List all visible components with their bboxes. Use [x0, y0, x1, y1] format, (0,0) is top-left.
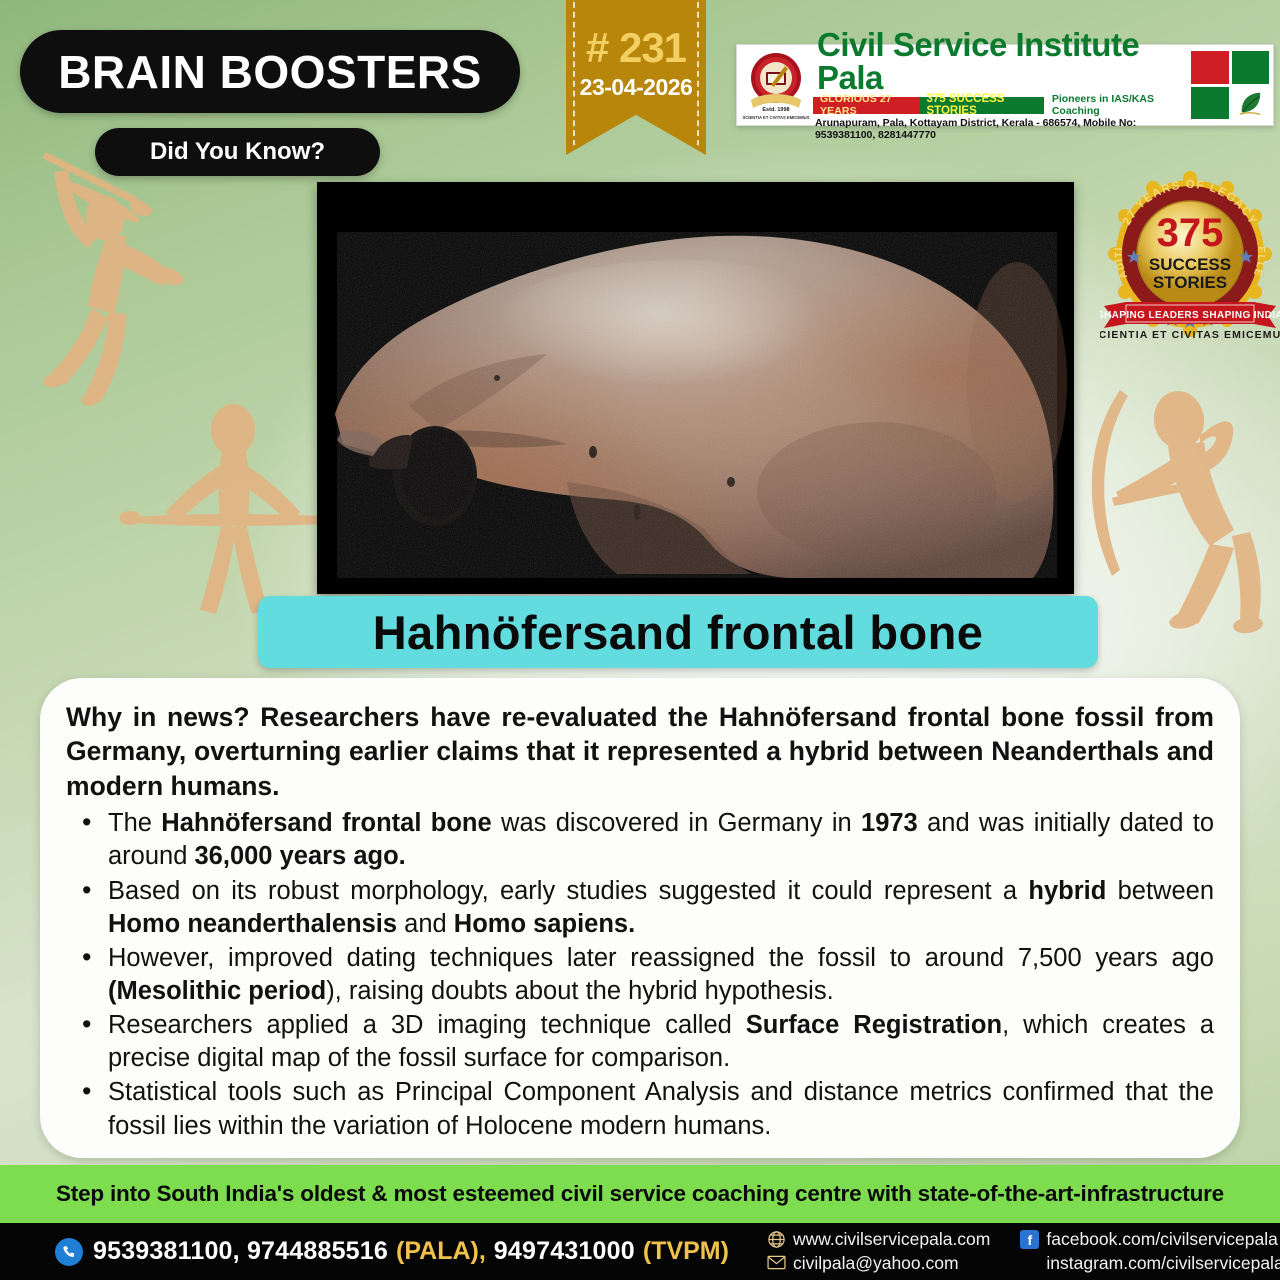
leaf-icon: [1232, 87, 1270, 120]
institute-address: Arunapuram, Pala, Kottayam District, Ker…: [813, 117, 1187, 141]
envelope-icon: [767, 1254, 786, 1273]
institute-name: Civil Service Institute Pala: [813, 29, 1187, 94]
facebook-icon: f: [1020, 1230, 1039, 1249]
page-title: BRAIN BOOSTERS: [58, 45, 482, 99]
badge-number: 375: [1157, 211, 1224, 255]
list-item: Based on its robust morphology, early st…: [104, 875, 1214, 941]
issue-date: 23-04-2026: [566, 74, 706, 101]
issue-ribbon: # 231 23-04-2026: [566, 0, 706, 155]
footer-web-block: www.civilservicepala.com civilpala@yahoo…: [767, 1229, 990, 1274]
did-you-know-pill: Did You Know?: [95, 128, 380, 176]
badge-ribbon-text: SHAPING LEADERS SHAPING INDIA: [1100, 310, 1280, 321]
institute-crest-icon: Estd. 1998 SCIENTIA ET CIVITAS EMICEMUS: [741, 48, 811, 122]
footer-phone-block: 9539381100, 9744885516 (PALA), 949743100…: [0, 1237, 729, 1266]
footer-instagram-row[interactable]: instagram.com/civilservicepala: [1020, 1253, 1280, 1274]
logo-credential-strip: GLORIOUS 27 YEARS 375 SUCCESS STORIES Pi…: [813, 97, 1187, 114]
globe-icon: [767, 1230, 786, 1249]
poster-root: BRAIN BOOSTERS Did You Know? # 231 23-04…: [0, 0, 1280, 1280]
phone-icon: [55, 1238, 83, 1266]
footer-website[interactable]: www.civilservicepala.com: [793, 1229, 990, 1250]
logo-text-block: Civil Service Institute Pala GLORIOUS 27…: [811, 29, 1187, 141]
svg-text:SCIENTIA ET CIVITAS EMICEMUS: SCIENTIA ET CIVITAS EMICEMUS: [742, 115, 809, 120]
badge-line1: SUCCESS: [1149, 255, 1231, 274]
fossil-skull-illustration: [317, 182, 1074, 594]
footer-social-block: f facebook.com/civilservicepala instagra…: [1020, 1229, 1280, 1274]
footer-bar: 9539381100, 9744885516 (PALA), 949743100…: [0, 1223, 1280, 1280]
ribbon-dashed-border: [573, 0, 699, 146]
strip-pioneers: Pioneers in IAS/KAS Coaching: [1043, 97, 1187, 114]
footer-website-row[interactable]: www.civilservicepala.com: [767, 1229, 990, 1250]
why-in-news-paragraph: Why in news? Researchers have re-evaluat…: [66, 700, 1214, 803]
issue-number: # 231: [566, 24, 706, 72]
topic-title-banner: Hahnöfersand frontal bone: [258, 596, 1098, 668]
stick-bearer-figure-icon: [120, 400, 350, 620]
footer-facebook-row[interactable]: f facebook.com/civilservicepala: [1020, 1229, 1280, 1250]
square-green-bottom: [1191, 87, 1229, 120]
archer-figure-icon: [1082, 380, 1272, 650]
logo-color-squares: [1187, 48, 1273, 122]
footer-email-row[interactable]: civilpala@yahoo.com: [767, 1253, 990, 1274]
strip-glorious-years: GLORIOUS 27 YEARS: [813, 97, 920, 114]
footer-phone-main[interactable]: 9539381100, 9744885516: [93, 1237, 388, 1266]
square-green-top: [1232, 51, 1270, 84]
footer-instagram[interactable]: instagram.com/civilservicepala: [1046, 1253, 1280, 1274]
institute-logo-bar: Estd. 1998 SCIENTIA ET CIVITAS EMICEMUS …: [736, 44, 1274, 126]
footer-location-pala: (PALA),: [396, 1237, 486, 1266]
list-item: The Hahnöfersand frontal bone was discov…: [104, 807, 1214, 873]
strip-success-stories: 375 SUCCESS STORIES: [920, 97, 1043, 114]
badge-motto: SCIENTIA ET CIVITAS EMICEMUS: [1100, 329, 1280, 341]
success-stories-badge: 27 YEARS OF LEGACY TRADITION EXCELLENCE …: [1100, 166, 1280, 341]
list-item: However, improved dating techniques late…: [104, 942, 1214, 1008]
list-item: Statistical tools such as Principal Comp…: [104, 1076, 1214, 1142]
footer-facebook[interactable]: facebook.com/civilservicepala: [1046, 1229, 1278, 1250]
svg-text:Estd. 1998: Estd. 1998: [762, 107, 789, 113]
bullet-list: The Hahnöfersand frontal bone was discov…: [66, 807, 1214, 1142]
did-you-know-label: Did You Know?: [150, 138, 325, 166]
fossil-photo: [317, 182, 1074, 594]
tagline-text: Step into South India's oldest & most es…: [56, 1181, 1224, 1207]
footer-email[interactable]: civilpala@yahoo.com: [793, 1253, 959, 1274]
content-card: Why in news? Researchers have re-evaluat…: [40, 678, 1240, 1158]
square-red: [1191, 51, 1229, 84]
badge-line2: STORIES: [1153, 273, 1227, 292]
topic-title: Hahnöfersand frontal bone: [373, 605, 984, 660]
spear-thrower-figure-icon: [22, 140, 237, 470]
list-item: Researchers applied a 3D imaging techniq…: [104, 1009, 1214, 1075]
tagline-strip: Step into South India's oldest & most es…: [0, 1165, 1280, 1223]
footer-phone-tvpm[interactable]: 9497431000: [494, 1237, 635, 1266]
brain-boosters-title-pill: BRAIN BOOSTERS: [20, 30, 520, 113]
footer-location-tvpm: (TVPM): [643, 1237, 729, 1266]
